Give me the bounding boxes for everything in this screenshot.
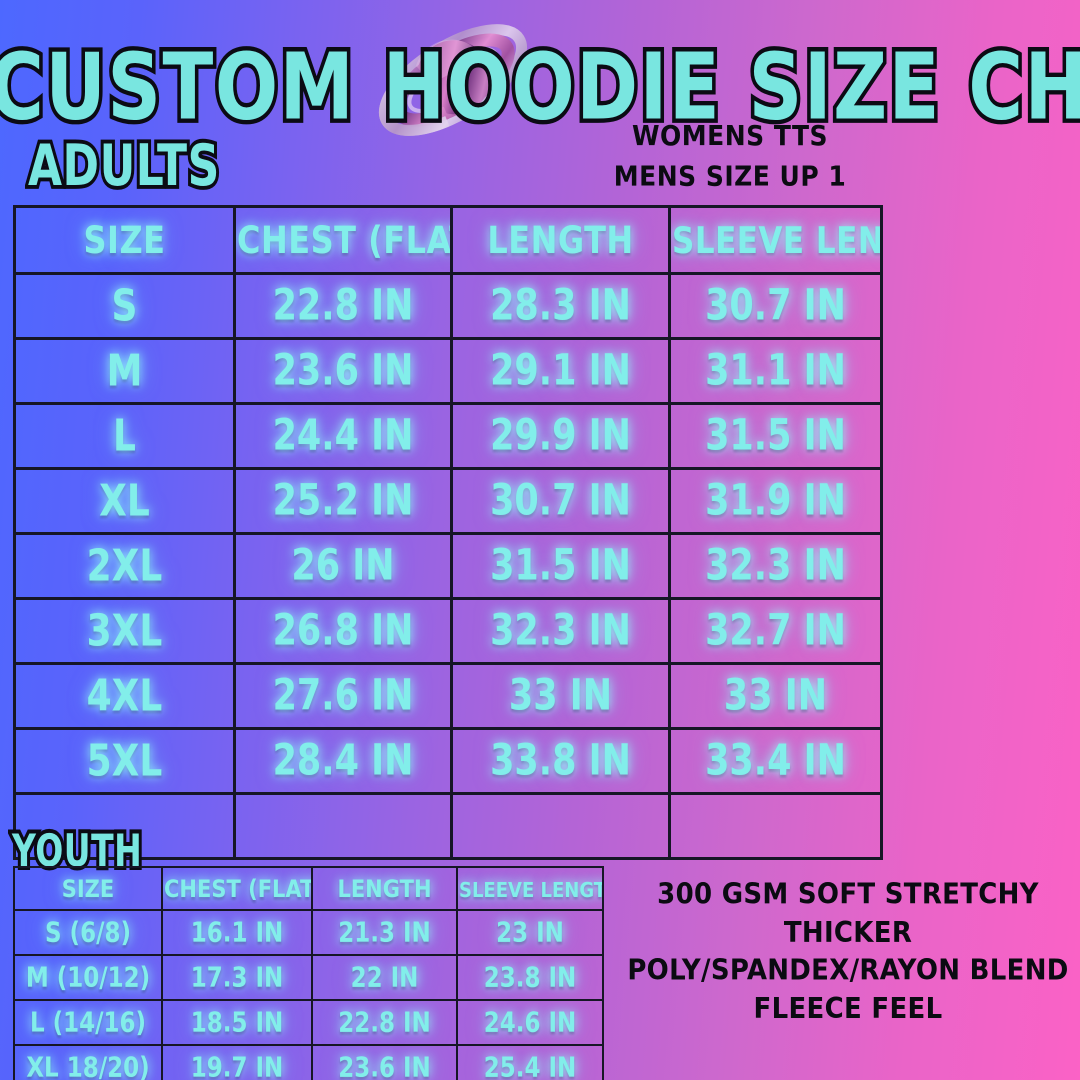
adults-header-length-label: LENGTH bbox=[487, 218, 633, 263]
fabric-note-line-2: THICKER bbox=[622, 914, 1074, 952]
adults-header-length: LENGTH bbox=[452, 207, 670, 274]
table-row: 3XL 26.8 IN 32.3 IN 32.7 IN bbox=[15, 599, 882, 664]
adults-cell-size: 5XL bbox=[15, 729, 235, 794]
youth-cell-sleeve: 23 IN bbox=[457, 910, 603, 955]
youth-header-size: SIZE bbox=[14, 867, 162, 910]
adults-cell-sleeve: 31.9 IN bbox=[670, 469, 882, 534]
adults-cell-length: 33.8 IN bbox=[452, 729, 670, 794]
table-row: S 22.8 IN 28.3 IN 30.7 IN bbox=[15, 274, 882, 339]
adults-cell-sleeve: 31.1 IN bbox=[670, 339, 882, 404]
table-row-empty bbox=[15, 794, 882, 859]
fabric-note-line-1: 300 GSM SOFT STRETCHY bbox=[622, 876, 1074, 914]
table-row: M 23.6 IN 29.1 IN 31.1 IN bbox=[15, 339, 882, 404]
youth-header-sleeve: SLEEVE LENGTH bbox=[457, 867, 603, 910]
adults-section-heading: ADULTS bbox=[28, 133, 220, 199]
adults-header-size-label: SIZE bbox=[83, 218, 165, 263]
youth-cell-length: 22.8 IN bbox=[312, 1000, 457, 1045]
youth-cell-sleeve: 25.4 IN bbox=[457, 1045, 603, 1080]
adults-cell-size: 4XL bbox=[15, 664, 235, 729]
youth-header-length-label: LENGTH bbox=[337, 875, 431, 903]
adults-cell-length: 28.3 IN bbox=[452, 274, 670, 339]
youth-cell-size: M (10/12) bbox=[14, 955, 162, 1000]
adults-table-header-row: SIZE CHEST (FLAT) LENGTH SLEEVE LENGTH bbox=[15, 207, 882, 274]
youth-cell-length: 23.6 IN bbox=[312, 1045, 457, 1080]
adults-cell-chest: 25.2 IN bbox=[235, 469, 452, 534]
youth-cell-size: L (14/16) bbox=[14, 1000, 162, 1045]
adults-header-size: SIZE bbox=[15, 207, 235, 274]
adults-cell-sleeve: 32.3 IN bbox=[670, 534, 882, 599]
table-row: XL 18/20) 19.7 IN 23.6 IN 25.4 IN bbox=[14, 1045, 603, 1080]
fabric-note-line-4: FLEECE FEEL bbox=[622, 990, 1074, 1028]
adults-header-sleeve: SLEEVE LENGTH bbox=[670, 207, 882, 274]
adults-cell-length: 29.9 IN bbox=[452, 404, 670, 469]
fabric-note: 300 GSM SOFT STRETCHY THICKER POLY/SPAND… bbox=[622, 876, 1074, 1028]
adults-cell-size: XL bbox=[15, 469, 235, 534]
table-row: M (10/12) 17.3 IN 22 IN 23.8 IN bbox=[14, 955, 603, 1000]
fabric-note-line-3: POLY/SPANDEX/RAYON BLEND bbox=[622, 952, 1074, 990]
adults-cell-sleeve: 31.5 IN bbox=[670, 404, 882, 469]
adults-cell-length: 30.7 IN bbox=[452, 469, 670, 534]
youth-cell-size: S (6/8) bbox=[14, 910, 162, 955]
youth-table-header-row: SIZE CHEST (FLAT) LENGTH SLEEVE LENGTH bbox=[14, 867, 603, 910]
youth-cell-chest: 16.1 IN bbox=[162, 910, 312, 955]
adults-header-chest: CHEST (FLAT) bbox=[235, 207, 452, 274]
youth-cell-chest: 19.7 IN bbox=[162, 1045, 312, 1080]
table-row: 2XL 26 IN 31.5 IN 32.3 IN bbox=[15, 534, 882, 599]
youth-cell-sleeve: 24.6 IN bbox=[457, 1000, 603, 1045]
table-row: S (6/8) 16.1 IN 21.3 IN 23 IN bbox=[14, 910, 603, 955]
table-row: XL 25.2 IN 30.7 IN 31.9 IN bbox=[15, 469, 882, 534]
adults-cell-chest: 24.4 IN bbox=[235, 404, 452, 469]
youth-header-chest: CHEST (FLAT) bbox=[162, 867, 312, 910]
youth-cell-chest: 17.3 IN bbox=[162, 955, 312, 1000]
fit-note-line-1: WOMENS TTS bbox=[560, 116, 900, 157]
adults-cell-chest: 26.8 IN bbox=[235, 599, 452, 664]
adults-cell-chest: 28.4 IN bbox=[235, 729, 452, 794]
adults-cell-sleeve: 33.4 IN bbox=[670, 729, 882, 794]
fit-note: WOMENS TTS MENS SIZE UP 1 bbox=[560, 116, 900, 197]
table-row: 5XL 28.4 IN 33.8 IN 33.4 IN bbox=[15, 729, 882, 794]
youth-header-chest-label: CHEST (FLAT) bbox=[164, 875, 312, 903]
adults-cell-sleeve: 33 IN bbox=[670, 664, 882, 729]
adults-cell-length: 32.3 IN bbox=[452, 599, 670, 664]
adults-cell-chest: 22.8 IN bbox=[235, 274, 452, 339]
youth-header-length: LENGTH bbox=[312, 867, 457, 910]
adults-cell-chest: 26 IN bbox=[235, 534, 452, 599]
adults-cell-size: S bbox=[15, 274, 235, 339]
adults-cell-length: 31.5 IN bbox=[452, 534, 670, 599]
youth-cell-length: 22 IN bbox=[312, 955, 457, 1000]
youth-cell-sleeve: 23.8 IN bbox=[457, 955, 603, 1000]
adults-cell-sleeve: 30.7 IN bbox=[670, 274, 882, 339]
adults-cell-length bbox=[452, 794, 670, 859]
adults-cell-chest: 23.6 IN bbox=[235, 339, 452, 404]
adults-size-table: SIZE CHEST (FLAT) LENGTH SLEEVE LENGTH S… bbox=[13, 205, 883, 860]
fit-note-line-2: MENS SIZE UP 1 bbox=[560, 157, 900, 198]
youth-cell-size: XL 18/20) bbox=[14, 1045, 162, 1080]
adults-cell-sleeve: 32.7 IN bbox=[670, 599, 882, 664]
table-row: 4XL 27.6 IN 33 IN 33 IN bbox=[15, 664, 882, 729]
adults-header-sleeve-label: SLEEVE LENGTH bbox=[672, 220, 882, 262]
adults-cell-size: M bbox=[15, 339, 235, 404]
size-chart-poster: CUSTOM HOODIE SIZE CHART ADULTS WOMENS T… bbox=[0, 0, 1080, 1080]
youth-size-table: SIZE CHEST (FLAT) LENGTH SLEEVE LENGTH S… bbox=[13, 866, 604, 1080]
adults-cell-length: 29.1 IN bbox=[452, 339, 670, 404]
adults-cell-chest: 27.6 IN bbox=[235, 664, 452, 729]
page-title: CUSTOM HOODIE SIZE CHART bbox=[0, 34, 1080, 141]
adults-cell-size: 3XL bbox=[15, 599, 235, 664]
youth-cell-length: 21.3 IN bbox=[312, 910, 457, 955]
table-row: L 24.4 IN 29.9 IN 31.5 IN bbox=[15, 404, 882, 469]
adults-header-chest-label: CHEST (FLAT) bbox=[237, 218, 452, 263]
youth-header-sleeve-label: SLEEVE LENGTH bbox=[459, 878, 603, 902]
table-row: L (14/16) 18.5 IN 22.8 IN 24.6 IN bbox=[14, 1000, 603, 1045]
adults-cell-size: L bbox=[15, 404, 235, 469]
youth-cell-chest: 18.5 IN bbox=[162, 1000, 312, 1045]
adults-cell-chest bbox=[235, 794, 452, 859]
adults-cell-size: 2XL bbox=[15, 534, 235, 599]
adults-cell-length: 33 IN bbox=[452, 664, 670, 729]
adults-cell-sleeve bbox=[670, 794, 882, 859]
youth-header-size-label: SIZE bbox=[62, 875, 115, 903]
